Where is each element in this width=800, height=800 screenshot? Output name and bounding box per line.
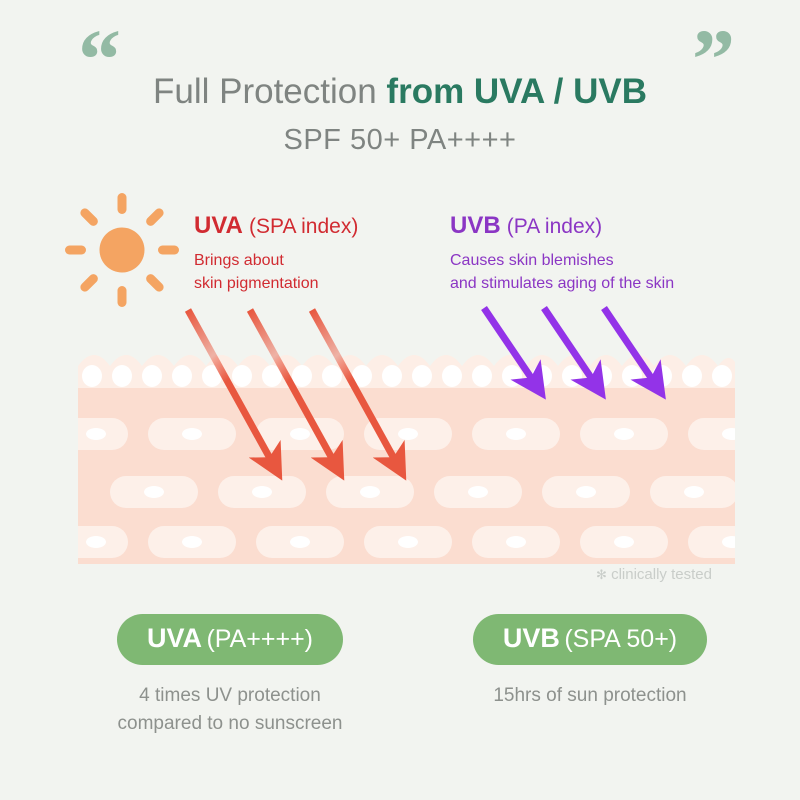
uvb-caption-line-1: 15hrs of sun protection [420, 682, 760, 710]
uva-desc-line-2: skin pigmentation [194, 273, 358, 296]
uva-code: UVA [194, 212, 243, 239]
title-light-part: Full Protection [153, 72, 386, 111]
footnote-text: clinically tested [611, 566, 712, 583]
uvb-label-block: UVB (PA index) Causes skin blemishes and… [450, 212, 674, 295]
uvb-badge-spec: (SPA 50+) [564, 625, 677, 653]
uva-badge-code: UVA [147, 623, 202, 653]
uva-badge-pill[interactable]: UVA (PA++++) [117, 614, 343, 665]
clinically-tested-footnote: ✻ clinically tested [596, 566, 712, 583]
sun-icon [62, 190, 182, 310]
skin-cross-section [78, 336, 735, 564]
uva-index: (SPA index) [249, 215, 358, 238]
uvb-description: Causes skin blemishes and stimulates agi… [450, 250, 674, 295]
uva-description: Brings about skin pigmentation [194, 250, 358, 295]
page-title: Full Protection from UVA / UVB [0, 72, 800, 112]
uva-desc-line-1: Brings about [194, 250, 358, 273]
uvb-desc-line-1: Causes skin blemishes [450, 250, 674, 273]
uvb-desc-line-2: and stimulates aging of the skin [450, 273, 674, 296]
uvb-heading: UVB (PA index) [450, 212, 674, 241]
asterisk-icon: ✻ [596, 567, 607, 582]
infographic-canvas: “ ” Full Protection from UVA / UVB SPF 5… [0, 0, 800, 800]
uva-caption-line-2: compared to no sunscreen [40, 710, 420, 738]
uvb-code: UVB [450, 212, 501, 239]
uva-heading: UVA (SPA index) [194, 212, 358, 241]
badge-column-uva: UVA (PA++++) 4 times UV protection compa… [40, 614, 420, 737]
badge-column-uvb: UVB (SPA 50+) 15hrs of sun protection [420, 614, 760, 710]
uva-badge-spec: (PA++++) [206, 625, 313, 653]
uva-badge-caption: 4 times UV protection compared to no sun… [40, 682, 420, 737]
page-subtitle: SPF 50+ PA++++ [0, 124, 800, 157]
title-strong-part: from UVA / UVB [386, 72, 647, 111]
uva-label-block: UVA (SPA index) Brings about skin pigmen… [194, 212, 358, 295]
uva-caption-line-1: 4 times UV protection [40, 682, 420, 710]
uvb-badge-pill[interactable]: UVB (SPA 50+) [473, 614, 707, 665]
uvb-badge-caption: 15hrs of sun protection [420, 682, 760, 710]
uvb-badge-code: UVB [503, 623, 560, 653]
uvb-index: (PA index) [507, 215, 602, 238]
protection-badges: UVA (PA++++) 4 times UV protection compa… [0, 614, 800, 764]
